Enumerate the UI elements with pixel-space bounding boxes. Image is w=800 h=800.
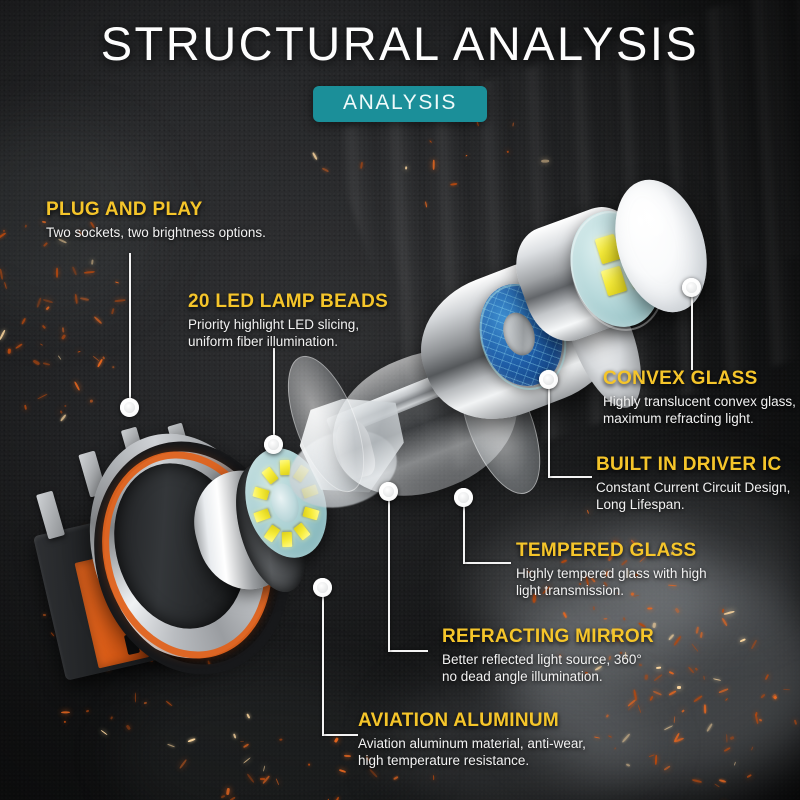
leader-line-convex-glass: [691, 288, 693, 370]
leader-line-tempered-glass-vertical: [463, 498, 465, 564]
leader-line-aviation-aluminum: [322, 734, 358, 736]
callout-title: PLUG AND PLAY: [46, 200, 266, 221]
callout-refracting-mirror: REFRACTING MIRROR Better reflected light…: [442, 627, 654, 686]
callout-tempered-glass: TEMPERED GLASS Highly tempered glass wit…: [516, 541, 707, 600]
led-chip: [282, 532, 293, 547]
leader-line-driver-ic-vertical: [548, 380, 550, 478]
leader-line-led-lamp-beads: [273, 348, 275, 442]
callout-title: BUILT IN DRIVER IC: [596, 455, 790, 476]
leader-dot-led-lamp-beads: [264, 435, 283, 454]
analysis-badge: ANALYSIS: [313, 86, 487, 122]
leader-dot-plug-and-play: [120, 398, 139, 417]
callout-built-in-driver-ic: BUILT IN DRIVER IC Constant Current Circ…: [596, 455, 790, 514]
callout-subtitle: Highly tempered glass with high light tr…: [516, 566, 707, 600]
leader-line-aviation-aluminum-vertical: [322, 596, 324, 736]
leader-dot-driver-ic: [539, 370, 558, 389]
leader-dot-convex-glass: [682, 278, 701, 297]
leader-line-refracting-mirror-vertical: [388, 500, 390, 652]
leader-line-refracting-mirror: [388, 650, 428, 652]
callout-title: 20 LED LAMP BEADS: [188, 292, 388, 313]
callout-subtitle: Priority highlight LED slicing, uniform …: [188, 317, 388, 351]
page-title: STRUCTURAL ANALYSIS: [0, 16, 800, 71]
leader-line-tempered-glass: [463, 562, 511, 564]
callout-title: TEMPERED GLASS: [516, 541, 707, 562]
leader-line-driver-ic: [548, 476, 592, 478]
callout-title: AVIATION ALUMINUM: [358, 711, 586, 732]
callout-title: CONVEX GLASS: [603, 369, 796, 390]
callout-convex-glass: CONVEX GLASS Highly translucent convex g…: [603, 369, 796, 428]
callout-title: REFRACTING MIRROR: [442, 627, 654, 648]
leader-line-plug-and-play: [129, 253, 131, 405]
callout-plug-and-play: PLUG AND PLAY Two sockets, two brightnes…: [46, 200, 266, 242]
callout-led-lamp-beads: 20 LED LAMP BEADS Priority highlight LED…: [188, 292, 388, 351]
callout-subtitle: Better reflected light source, 360° no d…: [442, 652, 654, 686]
leader-dot-aviation-aluminum: [313, 578, 332, 597]
callout-subtitle: Highly translucent convex glass, maximum…: [603, 394, 796, 428]
callout-subtitle: Two sockets, two brightness options.: [46, 225, 266, 242]
leader-dot-tempered-glass: [454, 488, 473, 507]
infographic-canvas: STRUCTURAL ANALYSIS ANALYSIS PLUG AND PL…: [0, 0, 800, 800]
callout-aviation-aluminum: AVIATION ALUMINUM Aviation aluminum mate…: [358, 711, 586, 770]
callout-subtitle: Constant Current Circuit Design, Long Li…: [596, 480, 790, 514]
leader-dot-refracting-mirror: [379, 482, 398, 501]
callout-subtitle: Aviation aluminum material, anti-wear, h…: [358, 736, 586, 770]
